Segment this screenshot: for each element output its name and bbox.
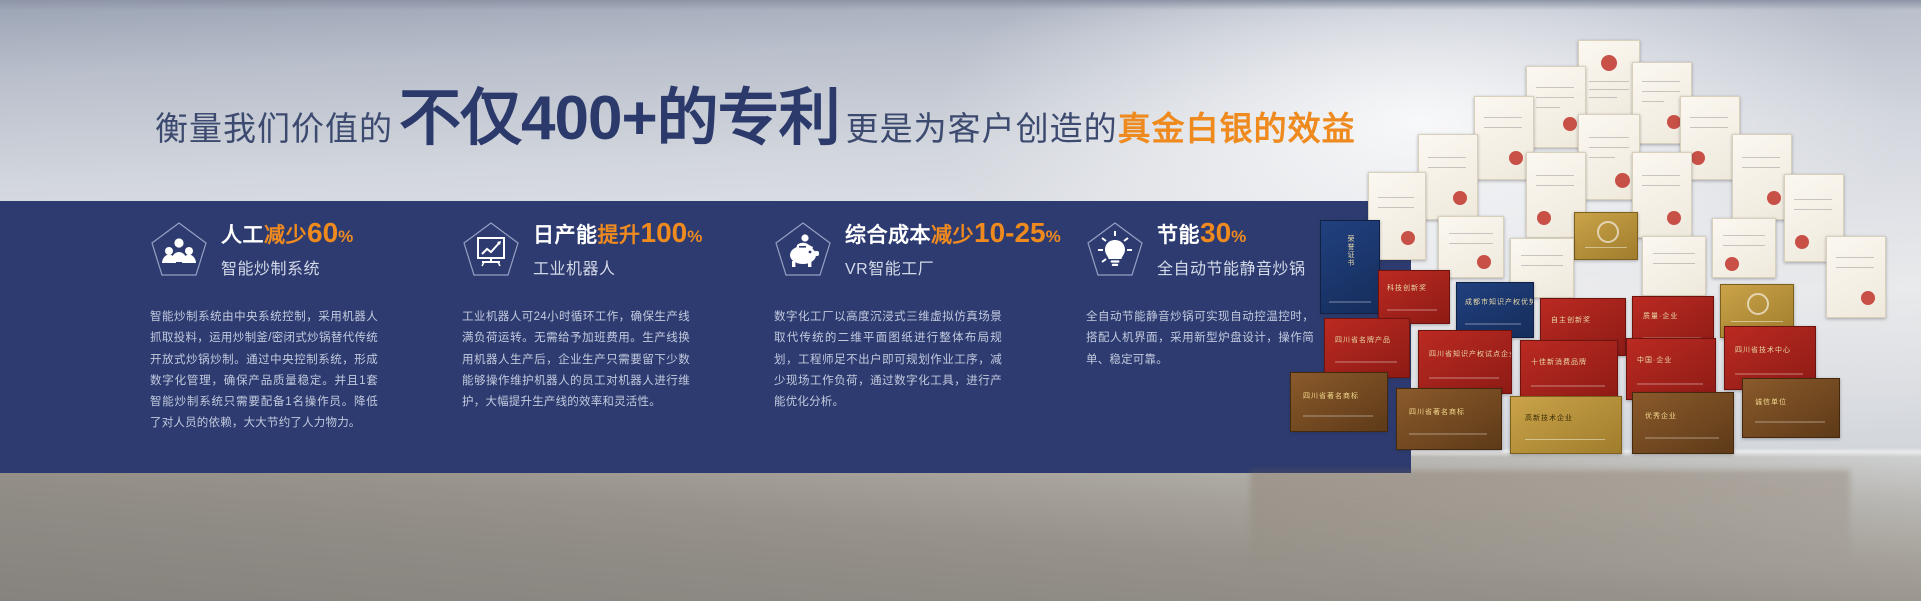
piggy-bank-icon: [774, 221, 832, 277]
certificate-item: [1418, 134, 1478, 220]
certificate-plaque: [1574, 212, 1638, 260]
certificate-item: [1438, 216, 1504, 278]
feature-description: 数字化工厂以高度沉浸式三维虚拟仿真场景取代传统的二维平面图纸进行整体布局规划，工…: [774, 307, 1002, 413]
feature-unit: %: [687, 228, 702, 245]
feature-title-accent: 提升: [598, 225, 641, 246]
feature-value: 100: [641, 219, 688, 247]
certificate-item: [1474, 96, 1534, 180]
feature-item: 日产能 提升 100 % 工业机器人 工业机器人可24小时循环工作，确保生产线满…: [462, 213, 774, 463]
certificate-item: [1712, 218, 1776, 278]
certificate-item: [1732, 134, 1792, 220]
feature-title-main: 综合成本: [845, 225, 931, 246]
lightbulb-icon: [1086, 221, 1144, 277]
certificate-plaque: 四川省著名商标: [1396, 388, 1502, 450]
headline-middle: 更是为客户创造的: [846, 112, 1118, 150]
feature-title-main: 人工: [221, 225, 264, 246]
certificate-plaque: 优秀企业: [1632, 392, 1734, 454]
promo-banner: 衡量我们价值的 不仅400+的专利 更是为客户创造的 真金白银的效益: [0, 0, 1921, 601]
feature-description: 智能炒制系统由中央系统控制，采用机器人抓取投料，运用炒制釜/密闭式炒锅替代传统开…: [150, 307, 378, 435]
certificate-plaque: 科技创新奖: [1378, 270, 1450, 324]
certificate-wall-reflection: [1250, 470, 1850, 565]
feature-title-accent: 减少: [931, 225, 974, 246]
certificate-plaque: 十佳新消费品牌: [1520, 340, 1618, 402]
certificate-wall: 荣誉证书 科技创新奖 成都市知识产权优势企业 自主创新奖 质量·企业: [1180, 40, 1921, 510]
feature-unit: %: [1046, 228, 1061, 245]
feature-description: 工业机器人可24小时循环工作，确保生产线满负荷运转。无需给予加班费用。生产线换用…: [462, 307, 690, 413]
feature-value: 60: [307, 219, 338, 247]
certificate-plaque: 四川省知识产权试点企业: [1418, 330, 1512, 394]
certificate-plaque: 诚信单位: [1742, 378, 1840, 438]
feature-unit: %: [338, 228, 353, 245]
feature-subtitle: 工业机器人: [533, 255, 702, 279]
certificate-plaque: 中国·企业: [1626, 338, 1716, 400]
certificate-item: [1578, 114, 1640, 200]
feature-subtitle: 智能炒制系统: [221, 255, 353, 279]
top-edge-shade: [0, 0, 1921, 10]
feature-item: 人工 减少 60 % 智能炒制系统 智能炒制系统由中央系统控制，采用机器人抓取投…: [150, 213, 462, 463]
headline-lead: 衡量我们价值的: [155, 112, 393, 150]
certificate-item: [1578, 40, 1640, 124]
certificate-plaque: 高新技术企业: [1510, 396, 1622, 454]
certificate-item: [1632, 152, 1692, 238]
certificate-item: [1526, 66, 1586, 148]
feature-value: 10-25: [974, 219, 1046, 247]
certificate-item: [1642, 236, 1706, 296]
chart-board-icon: [462, 221, 520, 277]
certificate-plaque: 四川省名牌产品: [1324, 318, 1410, 378]
certificate-plaque: 荣誉证书: [1320, 220, 1380, 314]
certificate-item: [1826, 236, 1886, 318]
feature-title-accent: 减少: [264, 225, 307, 246]
feature-title-main: 日产能: [533, 225, 598, 246]
people-group-icon: [150, 221, 208, 277]
headline-emphasis: 不仅400+的专利: [393, 88, 846, 150]
certificate-plaque: 四川省著名商标: [1290, 372, 1388, 432]
feature-item: 综合成本 减少 10-25 % VR智能工厂 数字化工厂以高度沉浸式三维虚拟仿真…: [774, 213, 1086, 463]
feature-subtitle: VR智能工厂: [845, 255, 1061, 279]
